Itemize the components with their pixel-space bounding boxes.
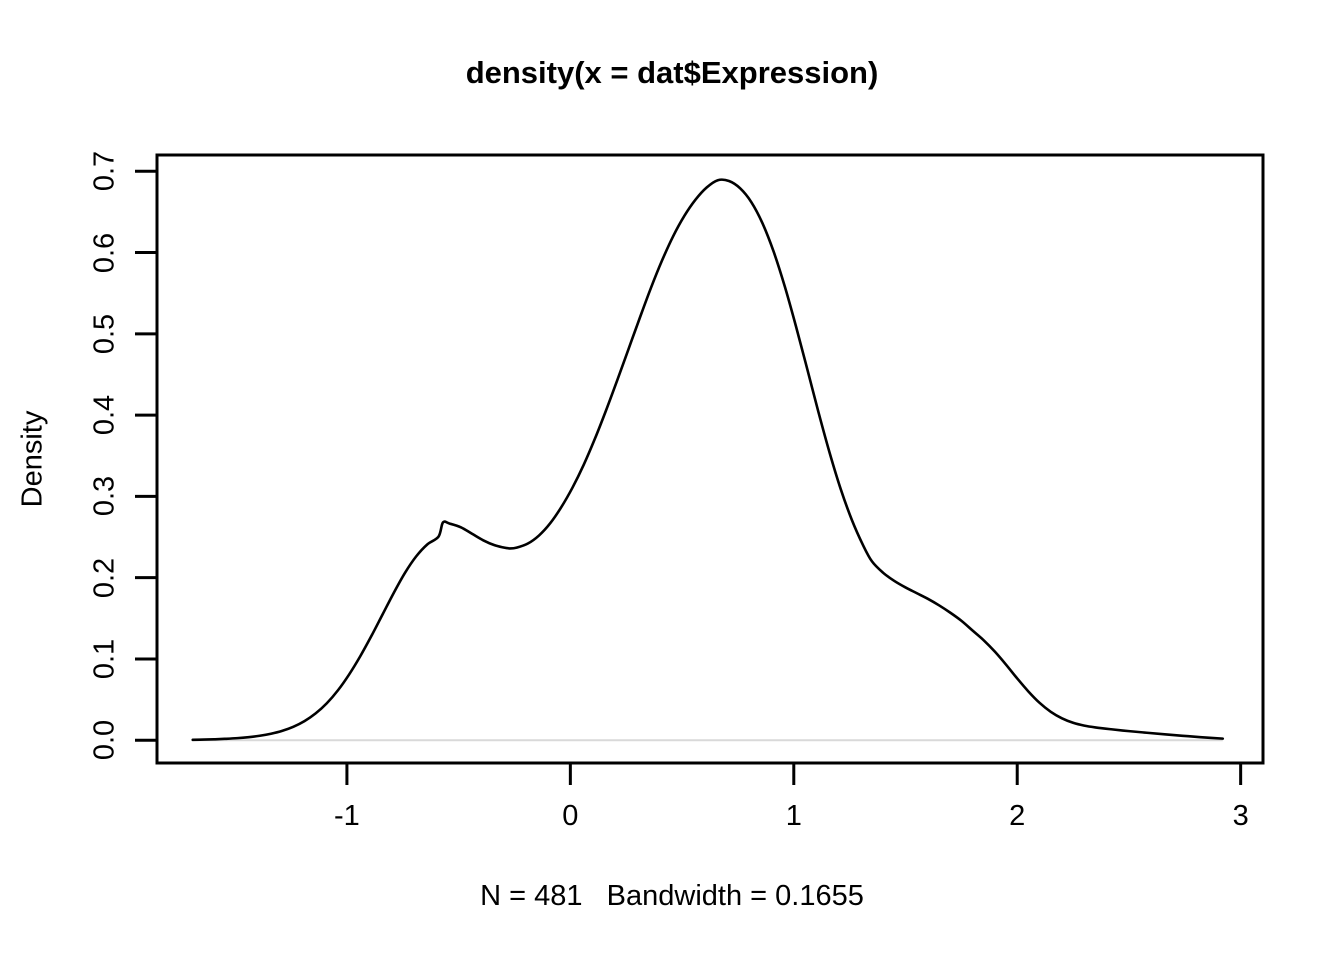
plot-canvas	[0, 0, 1344, 960]
y-tick-label: 0.3	[89, 476, 122, 516]
x-axis-ticks	[347, 763, 1241, 785]
y-tick-label: 0.7	[89, 151, 122, 191]
plot-frame	[157, 155, 1263, 763]
y-axis-ticks	[135, 171, 157, 740]
y-tick-label: 0.0	[89, 720, 122, 760]
y-tick-label: 0.5	[89, 314, 122, 354]
density-curve	[193, 180, 1223, 740]
x-tick-label: 0	[562, 800, 578, 833]
x-tick-label: 2	[1009, 800, 1025, 833]
x-tick-label: 3	[1233, 800, 1249, 833]
x-tick-label: -1	[334, 800, 360, 833]
y-tick-label: 0.6	[89, 232, 122, 272]
y-tick-label: 0.4	[89, 395, 122, 435]
x-tick-label: 1	[786, 800, 802, 833]
density-plot: density(x = dat$Expression) Density N = …	[0, 0, 1344, 960]
y-tick-label: 0.1	[89, 639, 122, 679]
y-tick-label: 0.2	[89, 558, 122, 598]
